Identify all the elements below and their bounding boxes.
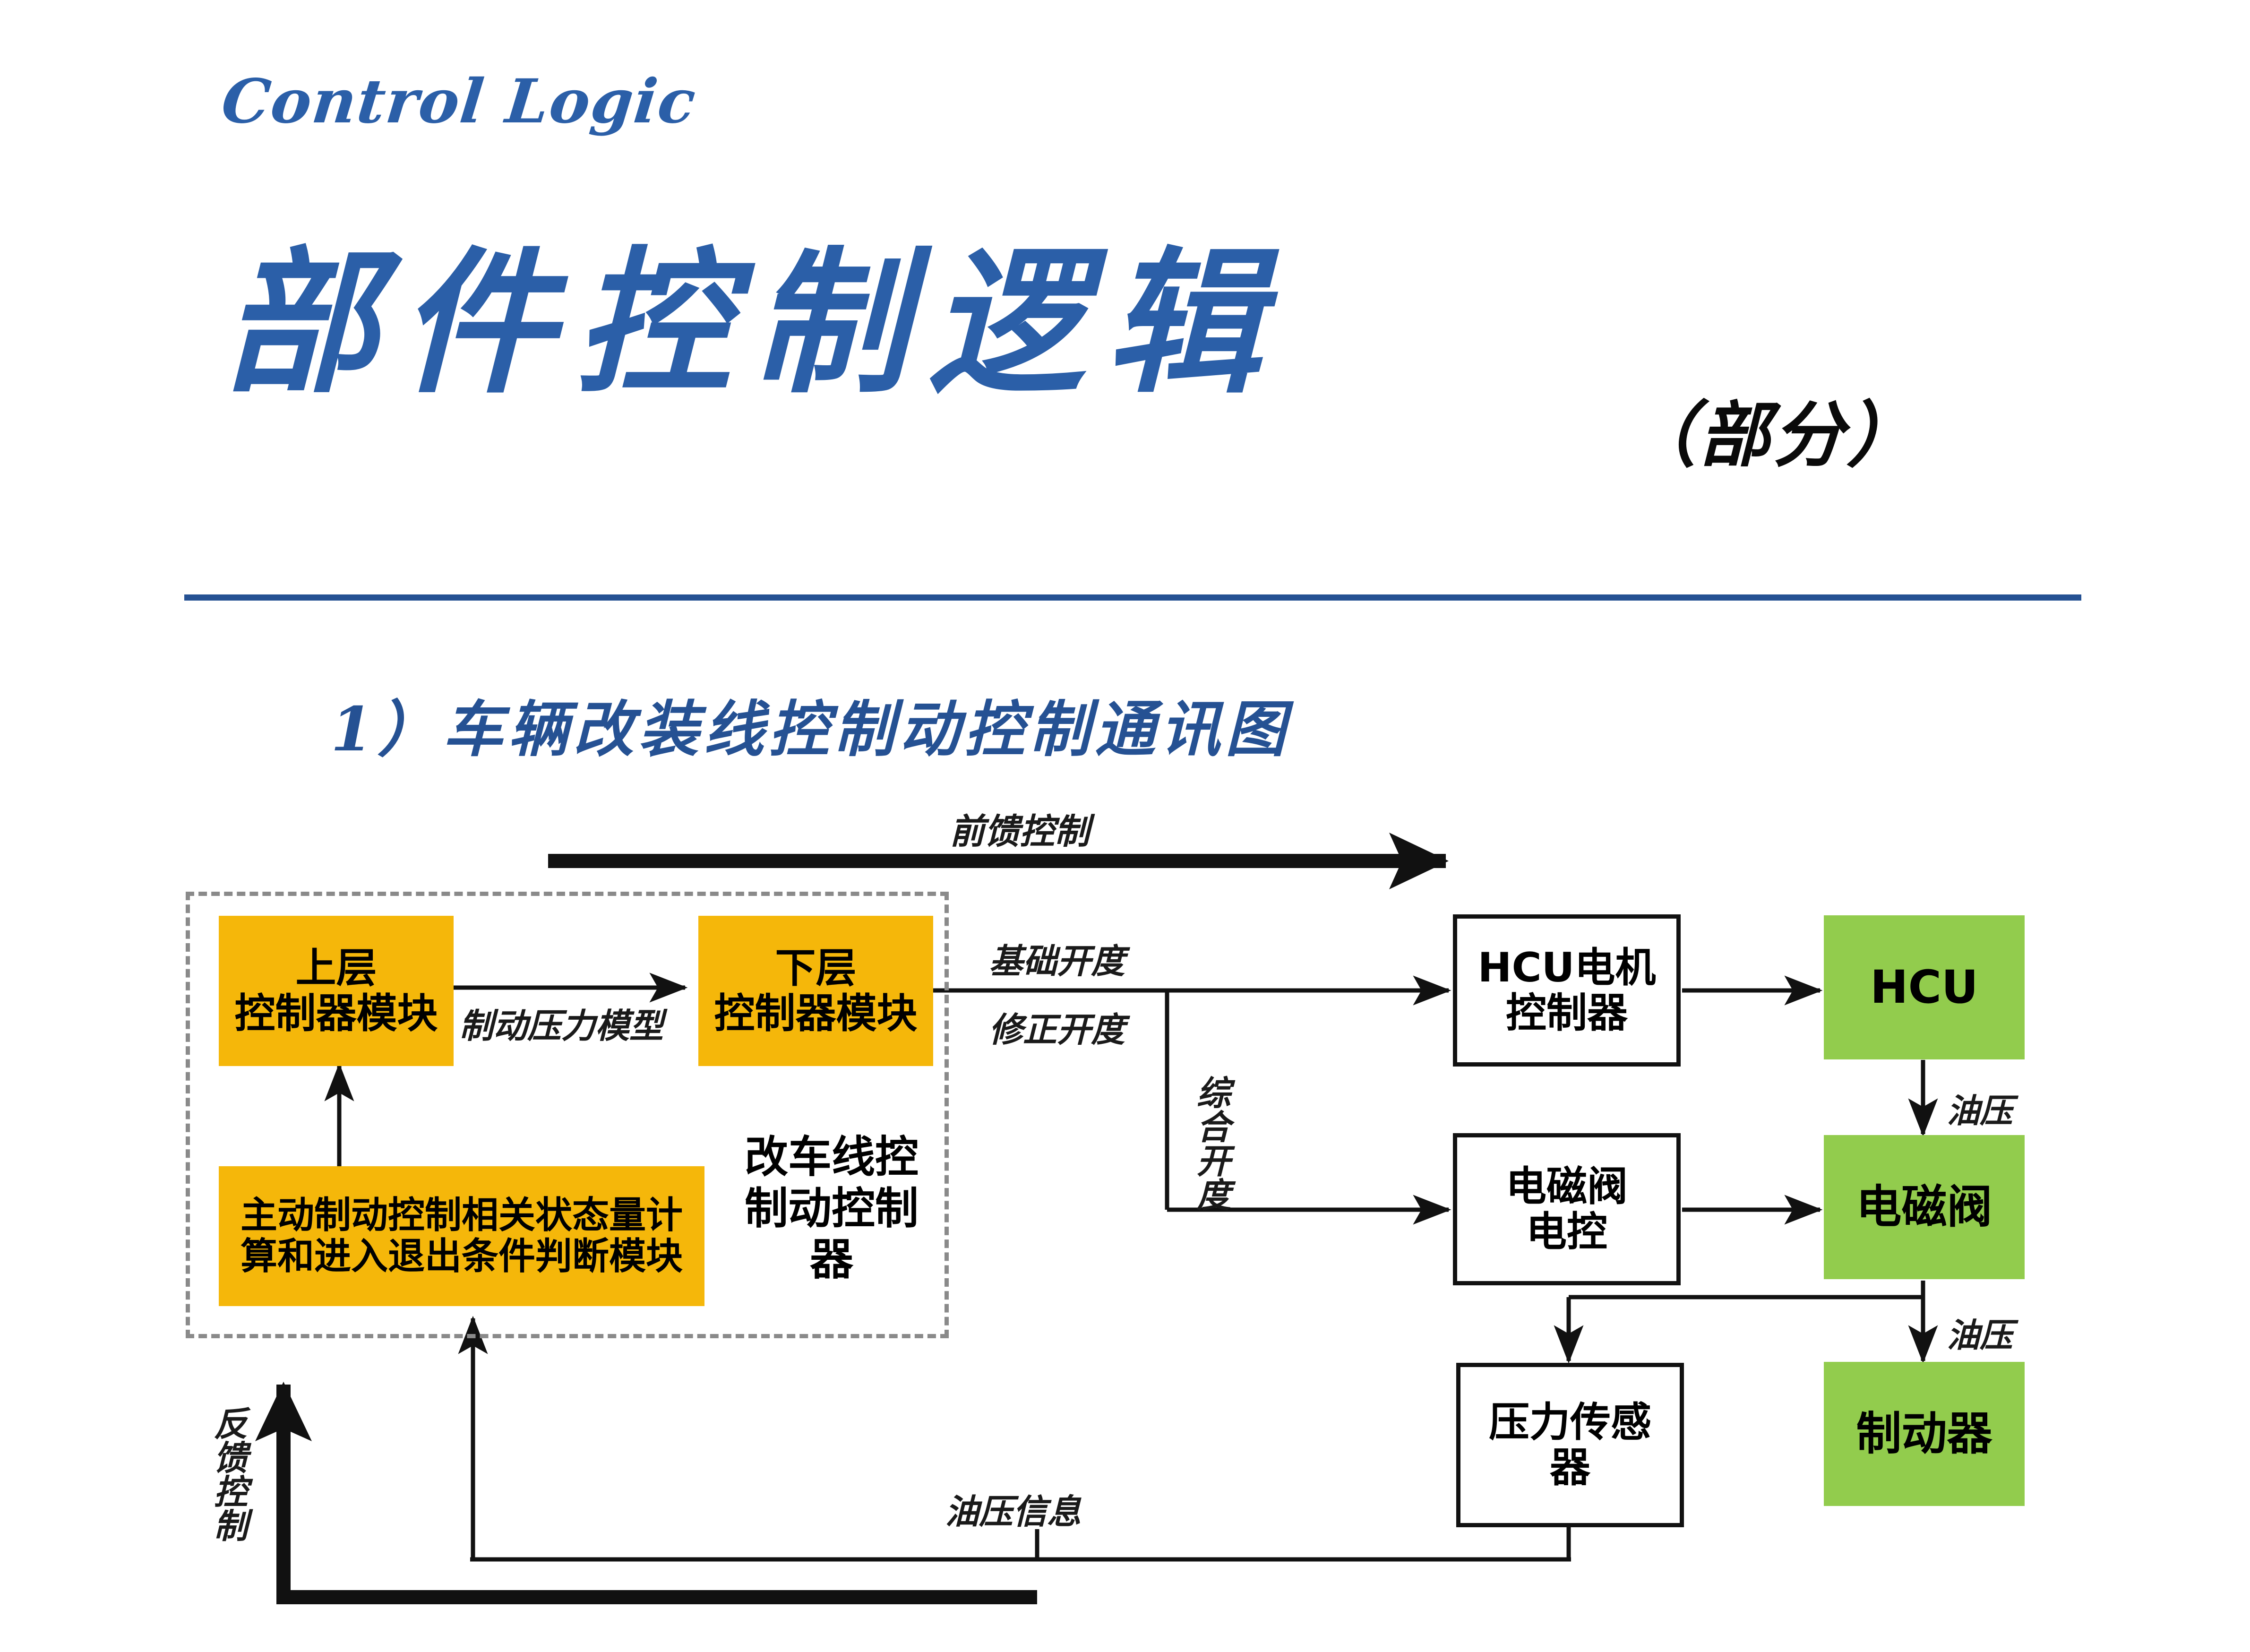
connector-pressure-sensor-to-feedback: [1035, 1527, 1571, 1559]
connector-solenoid-to-pressure-sensor: [1569, 1297, 1923, 1361]
edge-label-oil-pressure-solenoid: 油压: [1947, 1309, 2013, 1357]
box-solenoid-ecu[interactable]: 电磁阀 电控: [1453, 1133, 1681, 1285]
edge-label-combined-opening: 综合开度: [1186, 1075, 1236, 1211]
control-communication-diagram: 改车线控 制动控制器 上层 控制器模块 下层 控制器模块 主动制动控制相关状态量…: [0, 0, 2250, 1652]
box-upper-controller[interactable]: 上层 控制器模块: [219, 916, 454, 1066]
edge-label-oil-pressure-hcu: 油压: [1947, 1084, 2013, 1132]
edge-label-base-opening: 基础开度: [989, 933, 1125, 983]
box-pressure-sensor[interactable]: 压力传感 器: [1456, 1363, 1684, 1527]
edge-label-brake-pressure-model: 制动压力模型: [459, 998, 663, 1048]
box-brake[interactable]: 制动器: [1824, 1362, 2025, 1506]
box-hcu[interactable]: HCU: [1824, 915, 2025, 1059]
box-lower-controller[interactable]: 下层 控制器模块: [698, 916, 933, 1066]
edge-label-corrected-opening: 修正开度: [989, 1002, 1125, 1051]
edge-label-oil-pressure-info: 油压信息: [945, 1484, 1081, 1533]
box-hcu-motor-controller[interactable]: HCU电机 控制器: [1453, 914, 1681, 1067]
edge-label-feedforward: 前馈控制: [950, 803, 1090, 854]
box-state-calc-module[interactable]: 主动制动控制相关状态量计 算和进入退出条件判断模块: [219, 1166, 704, 1306]
edge-label-feedback: 反馈控制: [203, 1406, 253, 1542]
group-label-brake-controller: 改车线控 制动控制器: [730, 1132, 933, 1286]
connector-feedback-thick: [283, 1385, 1037, 1604]
box-solenoid-valve[interactable]: 电磁阀: [1824, 1135, 2025, 1279]
slide-canvas: Control Logic 部件控制逻辑 （部分） 1）车辆改装线控制动控制通讯…: [0, 0, 2250, 1652]
